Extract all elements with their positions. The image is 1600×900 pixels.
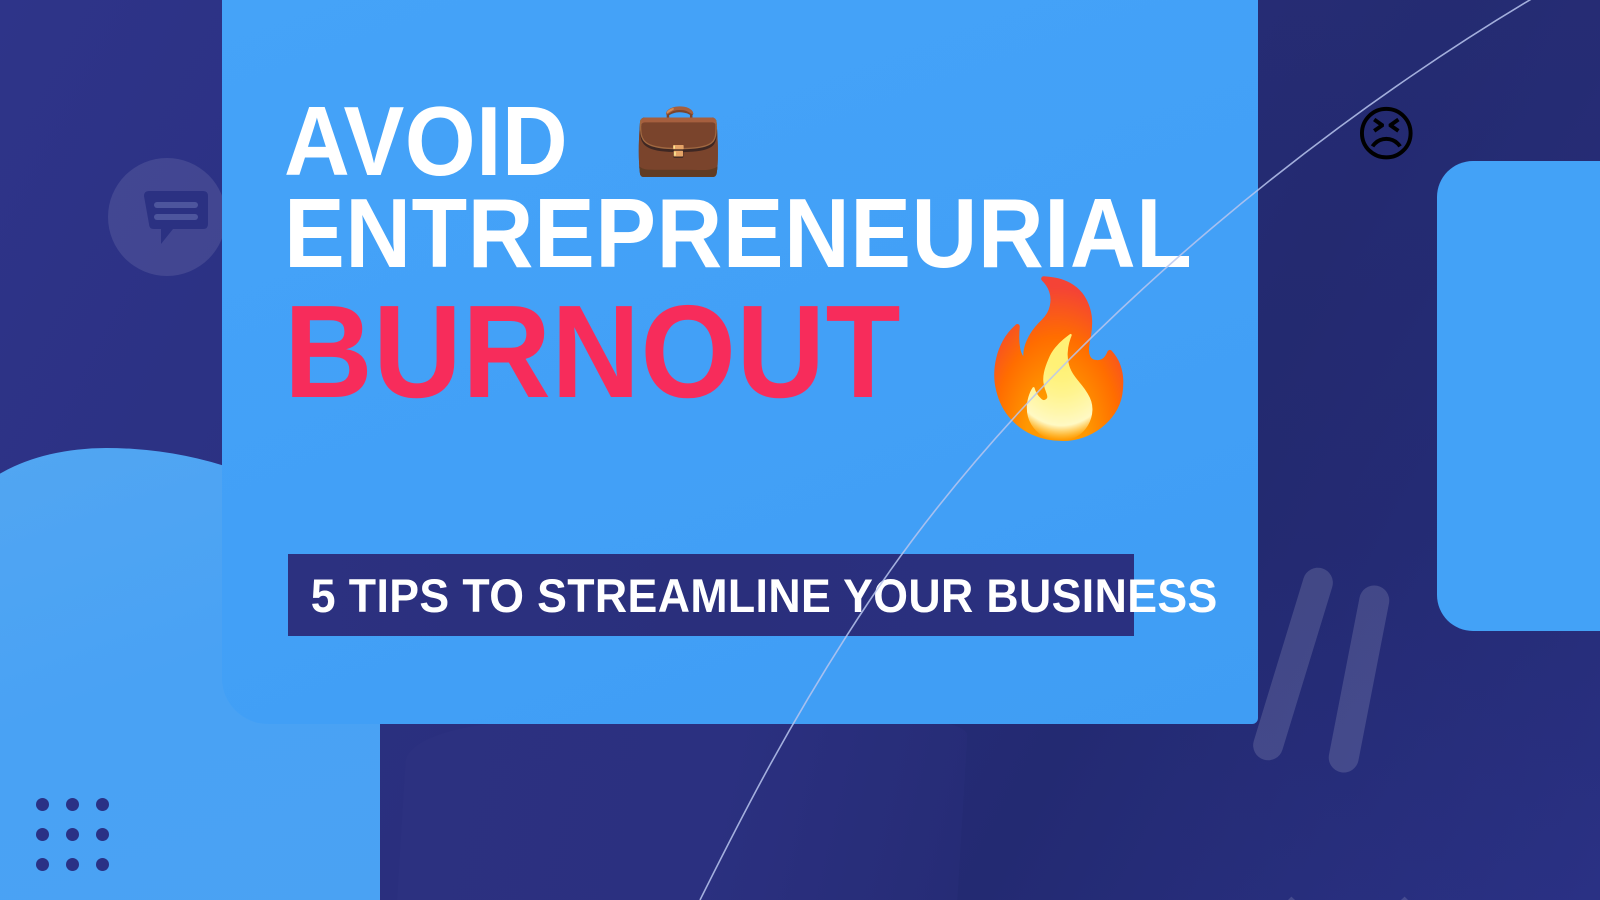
dot (66, 828, 79, 841)
smiley-bar-right (1326, 583, 1392, 775)
dot (96, 798, 109, 811)
dot (66, 858, 79, 871)
banner-canvas: AVOID 💼 ENTREPRENEURIAL BURNOUT 🔥 5 TIPS… (0, 0, 1600, 900)
abstract-smiley-marks (1252, 552, 1472, 882)
headline-line-1: AVOID (284, 96, 568, 186)
smiley-bar-left (1249, 564, 1336, 764)
headline-line-3-row: BURNOUT 🔥 (284, 278, 1224, 428)
subtitle-banner: 5 TIPS TO STREAMLINE YOUR BUSINESS (288, 554, 1134, 636)
subtitle-text: 5 TIPS TO STREAMLINE YOUR BUSINESS (288, 568, 1218, 623)
headline-line-2: ENTREPRENEURIAL (284, 188, 1192, 278)
dot (96, 858, 109, 871)
smiley-curve (1242, 774, 1454, 900)
dot (36, 858, 49, 871)
headline-line-1-row: AVOID 💼 (284, 96, 1224, 186)
dot (36, 828, 49, 841)
headline-line-2-row: ENTREPRENEURIAL (284, 186, 1224, 278)
persevering-face-icon: 😣 (1355, 105, 1418, 165)
dot (96, 828, 109, 841)
dot-grid-pattern (36, 798, 109, 871)
headline-block: AVOID 💼 ENTREPRENEURIAL BURNOUT 🔥 (284, 96, 1224, 428)
briefcase-icon: 💼 (634, 101, 724, 173)
dot (36, 798, 49, 811)
chat-bubble-icon (140, 190, 212, 246)
headline-line-3: BURNOUT (284, 291, 901, 412)
fire-icon: 🔥 (965, 284, 1152, 434)
bottom-navy-shape (396, 722, 968, 900)
dot (66, 798, 79, 811)
